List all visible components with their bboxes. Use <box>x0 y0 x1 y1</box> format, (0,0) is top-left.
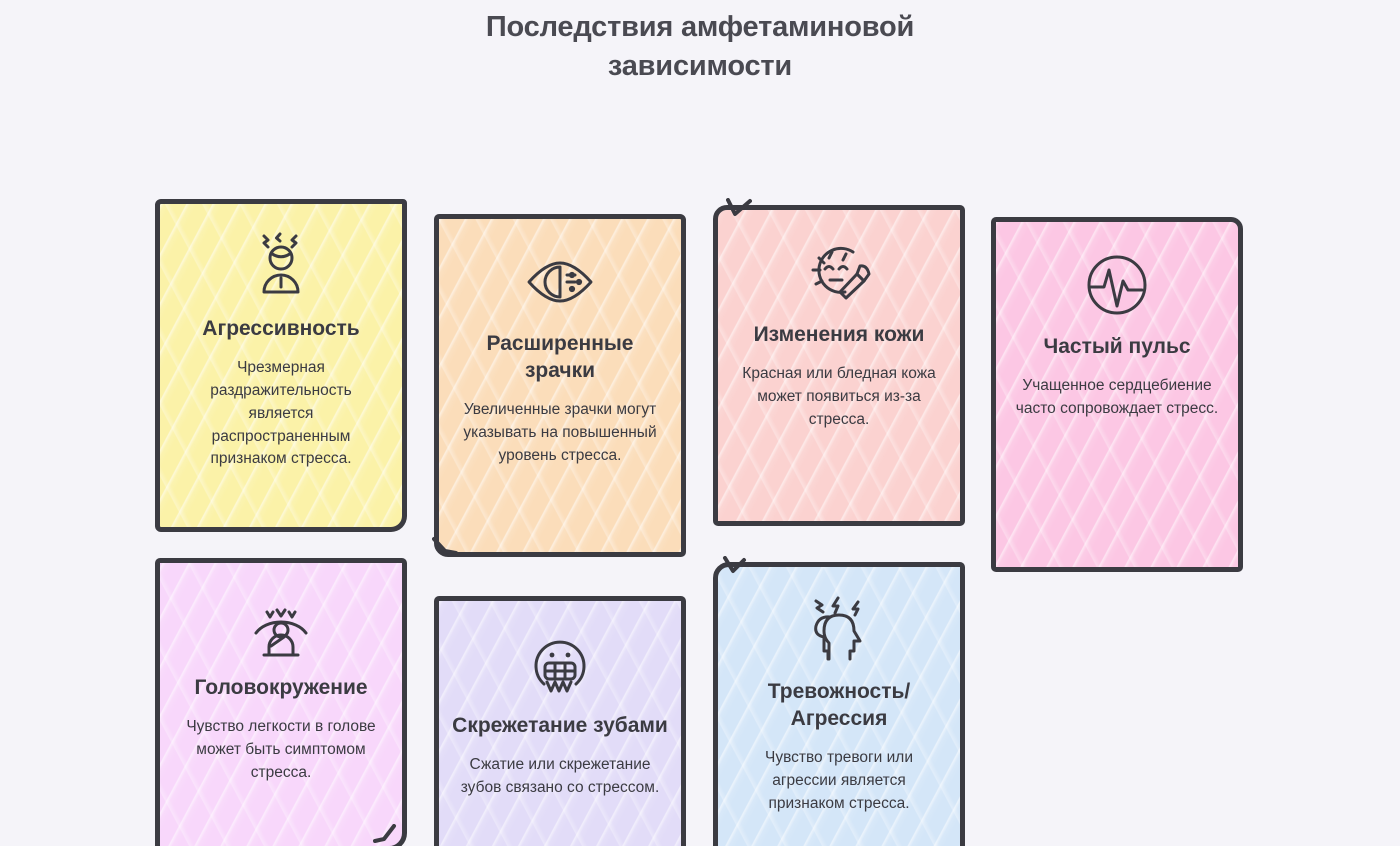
card-description: Чувство легкости в голове может быть сим… <box>160 716 402 784</box>
card-description: Сжатие или скрежетание зубов связано со … <box>439 754 681 800</box>
card-title: Агрессивность <box>190 316 371 343</box>
card-board: Агрессивность Чрезмерная раздражительнос… <box>0 86 1400 846</box>
dilated-eye-icon <box>523 245 597 319</box>
grinding-teeth-face-icon <box>523 627 597 701</box>
card-description: Чувство тревоги или агрессии является пр… <box>718 747 960 815</box>
card-title: Расширенные зрачки <box>439 331 681 385</box>
card-anxiety[interactable]: Тревожность/ Агрессия Чувство тревоги ил… <box>713 562 965 846</box>
card-description: Увеличенные зрачки могут указывать на по… <box>439 399 681 467</box>
card-description: Красная или бледная кожа может появиться… <box>718 363 960 431</box>
card-title: Тревожность/ Агрессия <box>718 679 960 733</box>
card-aggression[interactable]: Агрессивность Чрезмерная раздражительнос… <box>155 199 407 532</box>
card-dizziness[interactable]: Головокружение Чувство легкости в голове… <box>155 558 407 846</box>
card-pupils[interactable]: Расширенные зрачки Увеличенные зрачки мо… <box>434 214 686 557</box>
card-description: Учащенное сердцебиение часто сопровождае… <box>996 375 1238 421</box>
card-title: Скрежетание зубами <box>440 713 680 740</box>
card-pulse[interactable]: Частый пульс Учащенное сердцебиение част… <box>991 217 1243 572</box>
two-heads-lightning-icon <box>802 593 876 667</box>
angry-person-icon <box>244 230 318 304</box>
card-skin[interactable]: Изменения кожи Красная или бледная кожа … <box>713 205 965 526</box>
card-title: Головокружение <box>182 675 379 702</box>
card-title: Изменения кожи <box>742 322 937 349</box>
card-title: Частый пульс <box>1031 334 1202 361</box>
card-description: Чрезмерная раздражительность является ра… <box>160 357 402 471</box>
page-title: Последствия амфетаминовой зависимости <box>390 0 1010 86</box>
dizzy-person-birds-icon <box>244 589 318 663</box>
card-teeth[interactable]: Скрежетание зубами Сжатие или скрежетани… <box>434 596 686 846</box>
face-with-brush-icon <box>802 236 876 310</box>
heartbeat-pulse-icon <box>1080 248 1154 322</box>
